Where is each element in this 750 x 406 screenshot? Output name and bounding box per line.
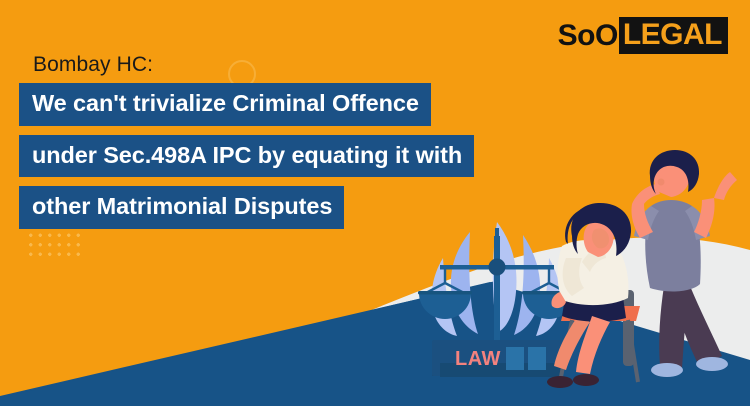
logo-text-legal: LEGAL	[619, 17, 728, 54]
soolegal-logo[interactable]: SoOLEGAL	[558, 17, 728, 54]
logo-text-soo: SoO	[558, 21, 619, 51]
headline-band-group: We can't trivialize Criminal Offence und…	[19, 83, 474, 229]
headline-kicker: Bombay HC:	[33, 53, 153, 77]
headline-line-2: under Sec.498A IPC by equating it with	[19, 135, 474, 178]
poster-canvas: LAW SoOLEGAL Bombay HC: We can't trivial…	[0, 0, 750, 406]
law-plinth-label: LAW	[455, 349, 501, 369]
headline-line-3: other Matrimonial Disputes	[19, 186, 344, 229]
headline-line-1: We can't trivialize Criminal Offence	[19, 83, 431, 126]
